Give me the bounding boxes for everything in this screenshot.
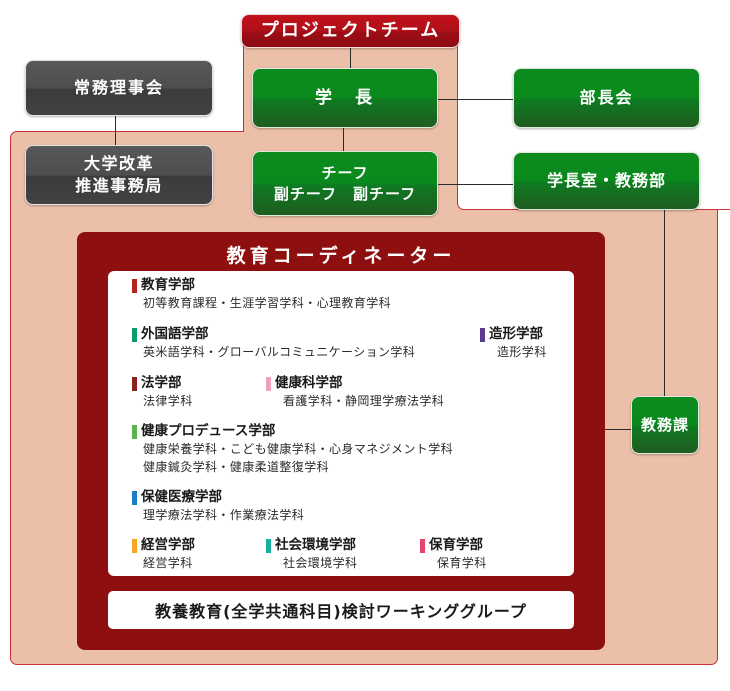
node-presidents-office[interactable]: 学長室・教務部 (513, 152, 700, 210)
faculty-law-departments: 法律学科 (132, 393, 193, 410)
faculty-health-sciences-swatch (266, 377, 271, 391)
faculty-education-departments: 初等教育課程・生涯学習学科・心理教育学科 (132, 295, 391, 312)
faculty-health-sciences-head: 健康科学部 (266, 375, 444, 392)
faculty-management-departments: 経営学科 (132, 555, 195, 572)
faculty-item-art-design[interactable]: 造形学部 造形学科 (480, 326, 547, 361)
faculty-art-design-name: 造形学部 (489, 326, 543, 343)
node-chief-team[interactable]: チーフ 副チーフ 副チーフ (252, 151, 438, 216)
faculty-health-produce-departments-line2: 健康鍼灸学科・健康柔道整復学科 (132, 459, 453, 476)
faculty-childcare-departments: 保育学科 (420, 555, 487, 572)
faculty-childcare-head: 保育学部 (420, 537, 487, 554)
faculty-item-health-medical[interactable]: 保健医療学部 理学療法学科・作業療法学科 (132, 489, 304, 524)
node-directors-meeting[interactable]: 部長会 (513, 68, 700, 128)
node-presidents-office-label: 学長室・教務部 (547, 170, 666, 192)
node-president[interactable]: 学 長 (252, 68, 438, 128)
faculty-item-education[interactable]: 教育学部 初等教育課程・生涯学習学科・心理教育学科 (132, 277, 391, 312)
faculty-social-environment-swatch (266, 539, 271, 553)
faculty-management-name: 経営学部 (141, 537, 195, 554)
faculty-childcare-swatch (420, 539, 425, 553)
connector-president-to-chief (343, 128, 344, 152)
connector-team-to-president (350, 47, 351, 69)
node-reform-office[interactable]: 大学改革 推進事務局 (25, 145, 213, 205)
faculty-health-medical-departments: 理学療法学科・作業療法学科 (132, 507, 304, 524)
faculty-list-card: 教育学部 初等教育課程・生涯学習学科・心理教育学科 外国語学部 英米語学科・グロ… (108, 271, 574, 576)
faculty-foreign-languages-name: 外国語学部 (141, 326, 209, 343)
faculty-item-law[interactable]: 法学部 法律学科 (132, 375, 193, 410)
faculty-health-produce-name: 健康プロデュース学部 (141, 423, 275, 440)
faculty-law-name: 法学部 (141, 375, 182, 392)
faculty-health-sciences-name: 健康科学部 (275, 375, 343, 392)
node-board-of-directors-label: 常務理事会 (74, 77, 164, 99)
node-directors-meeting-label: 部長会 (579, 87, 633, 109)
faculty-management-head: 経営学部 (132, 537, 195, 554)
faculty-art-design-head: 造形学部 (480, 326, 547, 343)
faculty-management-swatch (132, 539, 137, 553)
faculty-education-name: 教育学部 (141, 277, 195, 294)
faculty-foreign-languages-swatch (132, 328, 137, 342)
faculty-health-produce-swatch (132, 425, 137, 439)
faculty-art-design-departments: 造形学科 (480, 344, 547, 361)
faculty-health-medical-name: 保健医療学部 (141, 489, 222, 506)
connector-affairs-to-coordinator (605, 429, 632, 430)
node-academic-affairs[interactable]: 教務課 (631, 396, 699, 454)
working-group-label: 教養教育(全学共通科目)検討ワーキンググループ (155, 598, 527, 622)
faculty-health-produce-head: 健康プロデュース学部 (132, 423, 453, 440)
node-chief-label: チーフ (321, 163, 368, 183)
faculty-item-foreign-languages[interactable]: 外国語学部 英米語学科・グローバルコミュニケーション学科 (132, 326, 415, 361)
faculty-social-environment-name: 社会環境学部 (275, 537, 356, 554)
faculty-item-childcare[interactable]: 保育学部 保育学科 (420, 537, 487, 572)
faculty-education-head: 教育学部 (132, 277, 391, 294)
connector-office-to-affairs (664, 210, 665, 396)
node-board-of-directors[interactable]: 常務理事会 (25, 60, 213, 116)
faculty-education-swatch (132, 279, 137, 293)
faculty-item-health-produce[interactable]: 健康プロデュース学部 健康栄養学科・こども健康学科・心身マネジメント学科 健康鍼… (132, 423, 453, 476)
faculty-health-produce-departments: 健康栄養学科・こども健康学科・心身マネジメント学科 (132, 441, 453, 458)
faculty-art-design-swatch (480, 328, 485, 342)
faculty-health-medical-swatch (132, 491, 137, 505)
node-vice-chief-label: 副チーフ 副チーフ (274, 184, 416, 204)
education-coordinator-title: 教育コーディネーター (77, 241, 605, 268)
node-reform-office-label-line2: 推進事務局 (75, 175, 163, 197)
faculty-law-head: 法学部 (132, 375, 193, 392)
node-president-label: 学 長 (315, 87, 375, 110)
education-coordinator-panel: 教育コーディネーター 教育学部 初等教育課程・生涯学習学科・心理教育学科 外国語… (77, 232, 605, 650)
node-project-team[interactable]: プロジェクトチーム (241, 14, 460, 48)
org-chart-canvas: プロジェクトチーム 常務理事会 大学改革 推進事務局 学 長 チーフ 副チーフ … (0, 0, 730, 691)
connector-chief-to-office (437, 184, 514, 185)
faculty-social-environment-departments: 社会環境学科 (266, 555, 357, 572)
faculty-law-swatch (132, 377, 137, 391)
faculty-foreign-languages-head: 外国語学部 (132, 326, 415, 343)
node-academic-affairs-label: 教務課 (641, 415, 689, 435)
faculty-health-sciences-departments: 看護学科・静岡理学療法学科 (266, 393, 444, 410)
working-group-box[interactable]: 教養教育(全学共通科目)検討ワーキンググループ (108, 591, 574, 629)
faculty-item-health-sciences[interactable]: 健康科学部 看護学科・静岡理学療法学科 (266, 375, 444, 410)
faculty-item-social-environment[interactable]: 社会環境学部 社会環境学科 (266, 537, 357, 572)
faculty-social-environment-head: 社会環境学部 (266, 537, 357, 554)
faculty-childcare-name: 保育学部 (429, 537, 483, 554)
node-project-team-label: プロジェクトチーム (261, 19, 440, 43)
faculty-health-medical-head: 保健医療学部 (132, 489, 304, 506)
connector-board-to-reform-office (115, 116, 116, 146)
connector-president-to-directors (437, 99, 514, 100)
faculty-foreign-languages-departments: 英米語学科・グローバルコミュニケーション学科 (132, 344, 415, 361)
faculty-item-management[interactable]: 経営学部 経営学科 (132, 537, 195, 572)
node-reform-office-label-line1: 大学改革 (84, 153, 154, 175)
